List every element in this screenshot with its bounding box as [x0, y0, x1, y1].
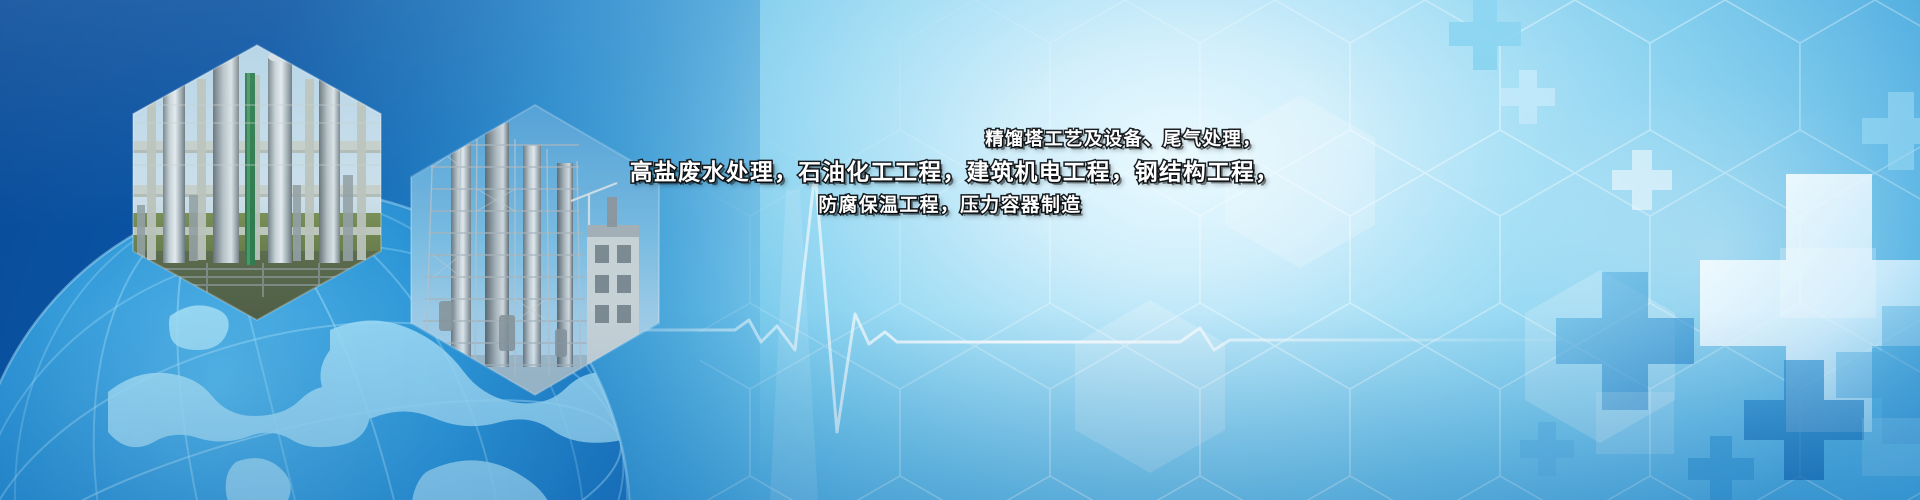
promo-banner: 精馏塔工艺及设备、尾气处理， 高盐废水处理，石油化工工程，建筑机电工程，钢结构工…	[0, 0, 1920, 500]
top-sheen-overlay	[0, 0, 1920, 230]
bottom-shade-overlay	[0, 310, 1920, 500]
